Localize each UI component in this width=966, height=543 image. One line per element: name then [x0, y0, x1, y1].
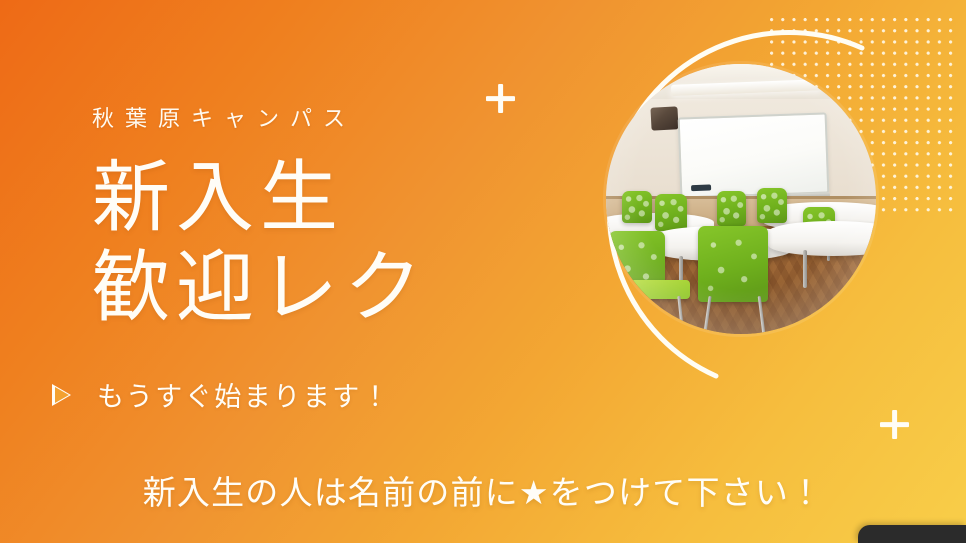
- bottom-control-bar[interactable]: [858, 525, 966, 543]
- photo-whiteboard: [678, 113, 829, 199]
- title-line-2: 歓迎レク: [92, 242, 562, 332]
- photo-table-leg: [803, 250, 807, 288]
- photo-chair: [717, 191, 747, 226]
- title-line-1: 新入生: [92, 152, 562, 242]
- plus-mark-icon: [880, 410, 909, 439]
- photo-chair: [622, 191, 652, 223]
- photo-chair: [655, 194, 687, 232]
- campus-eyebrow: 秋葉原キャンパス: [92, 108, 562, 130]
- status-text: もうすぐ始まります！: [97, 375, 391, 414]
- classroom-photo: [606, 64, 876, 334]
- play-triangle-outline-icon: [52, 384, 71, 406]
- footer-instruction: 新入生の人は名前の前に★をつけて下さい！: [0, 466, 966, 514]
- photo-chair-foreground-center: [698, 226, 768, 302]
- photo-table-front-right: [768, 221, 876, 256]
- photo-wall-speaker: [650, 106, 678, 130]
- photo-content: [606, 64, 876, 334]
- title-block: 秋葉原キャンパス 新入生 歓迎レク: [92, 108, 562, 333]
- status-row: もうすぐ始まります！: [52, 375, 391, 414]
- page-title: 新入生 歓迎レク: [92, 152, 562, 333]
- photo-chair: [757, 188, 787, 223]
- presentation-slide: 秋葉原キャンパス 新入生 歓迎レク もうすぐ始まります！ 新入生の人は名前の前に…: [0, 0, 966, 543]
